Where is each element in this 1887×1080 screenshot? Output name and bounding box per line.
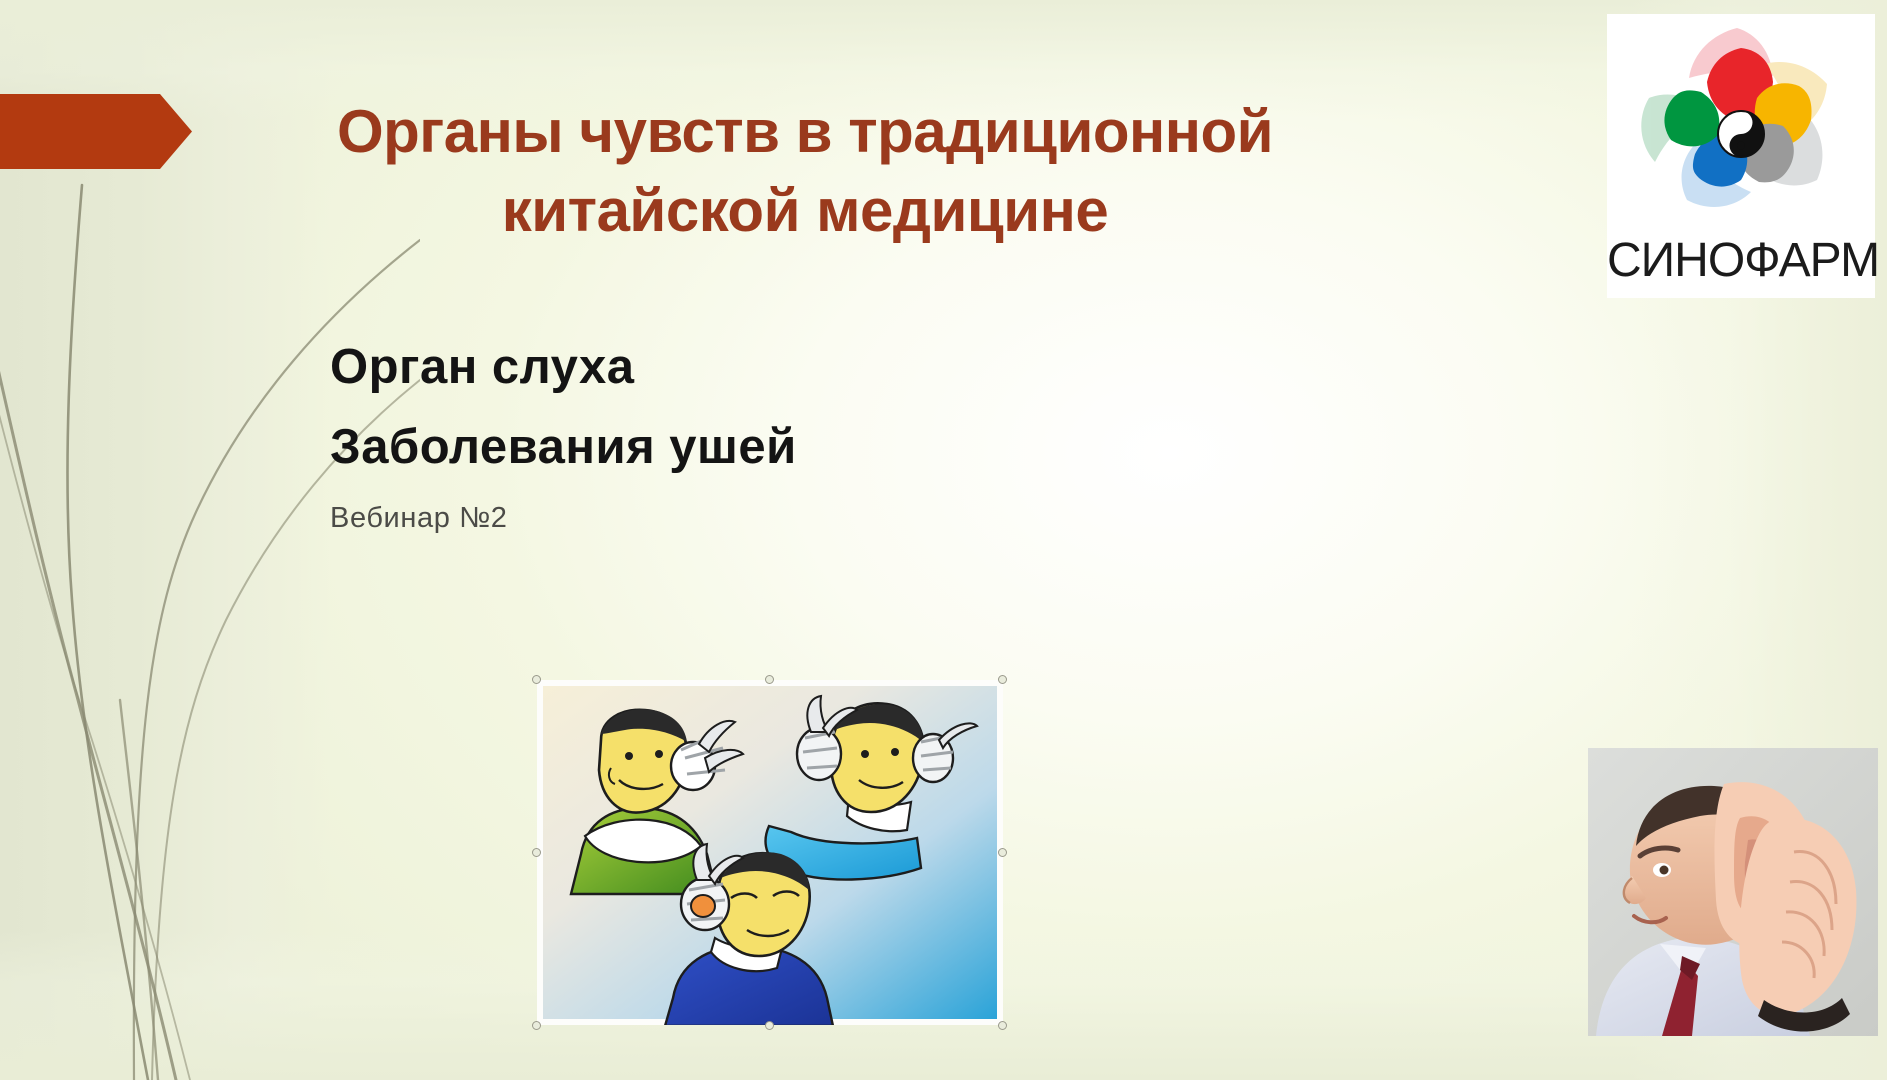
selection-handle-top-center[interactable] [765,675,774,684]
selection-handle-top-right[interactable] [998,675,1007,684]
cartoon-image[interactable] [537,680,1003,1025]
sinopharm-flower-icon [1631,22,1851,220]
arrow-banner-shape [0,94,192,169]
webinar-number-label: Вебинар №2 [330,502,1230,535]
page-title: Органы чувств в традиционной китайской м… [290,92,1320,250]
selection-handle-bottom-center[interactable] [765,1021,774,1030]
selection-handle-middle-left[interactable] [532,848,541,857]
ear-listening-photo[interactable] [1588,748,1878,1036]
selection-handle-bottom-right[interactable] [998,1021,1007,1030]
selection-handle-bottom-left[interactable] [532,1021,541,1030]
title-line-1: Органы чувств в традиционной [290,92,1320,171]
subtitle-line-ear-diseases: Заболевания ушей [330,408,1230,488]
presentation-slide: Органы чувств в традиционной китайской м… [0,0,1887,1080]
title-line-2: китайской медицине [290,171,1320,250]
logo-wordmark: СИНОФАРМ [1607,233,1875,288]
subtitle-block: Орган слуха Заболевания ушей Вебинар №2 [330,328,1230,535]
subtitle-line-organ-of-hearing: Орган слуха [330,328,1230,408]
selection-handle-middle-right[interactable] [998,848,1007,857]
company-logo: СИНОФАРМ [1607,14,1875,298]
selection-handle-top-left[interactable] [532,675,541,684]
